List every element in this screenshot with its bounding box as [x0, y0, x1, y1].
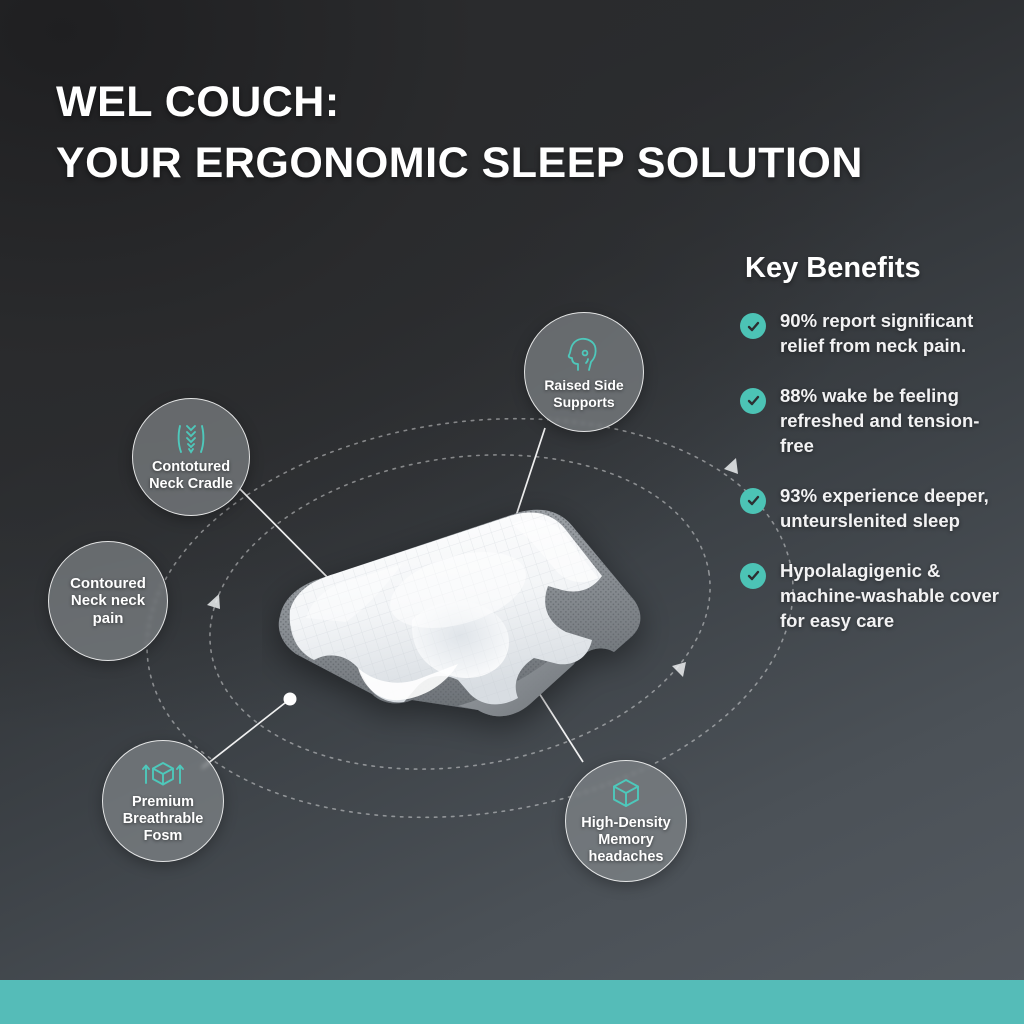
- bottom-accent-bar: [0, 980, 1024, 1024]
- feature-bubble-neck-pain[interactable]: Contoured Neck neck pain: [48, 541, 168, 661]
- benefit-item: 93% experience deeper, unteurslenited sl…: [740, 484, 1012, 534]
- key-benefits-panel: Key Benefits 90% report significant reli…: [740, 252, 1012, 659]
- benefit-text: 88% wake be feeling refreshed and tensio…: [780, 384, 1012, 459]
- feature-bubble-breathable-foam[interactable]: Premium Breathrable Fosm: [102, 740, 224, 862]
- benefit-item: 88% wake be feeling refreshed and tensio…: [740, 384, 1012, 459]
- check-icon: [740, 488, 766, 514]
- title-line-2: YOUR ERGONOMIC SLEEP SOLUTION: [56, 139, 956, 187]
- benefit-text: 93% experience deeper, unteurslenited sl…: [780, 484, 1012, 534]
- check-icon: [740, 313, 766, 339]
- feature-label: Raised Side Supports: [525, 377, 643, 409]
- breathable-cube-icon: [140, 757, 186, 791]
- feature-bubble-side-supports[interactable]: Raised Side Supports: [524, 312, 644, 432]
- key-benefits-title: Key Benefits: [745, 252, 1012, 285]
- cube-icon: [607, 776, 645, 812]
- benefit-text: Hypolalagigenic & machine-washable cover…: [780, 559, 1012, 634]
- product-image-contoured-pillow: [262, 468, 682, 768]
- infographic-poster: WEL COUCH: YOUR ERGONOMIC SLEEP SOLUTION: [0, 0, 1024, 1024]
- check-icon: [740, 563, 766, 589]
- title-line-1: WEL COUCH:: [56, 78, 956, 126]
- feature-label: High-Density Memory headaches: [566, 815, 686, 865]
- spine-icon: [171, 422, 211, 456]
- benefit-item: Hypolalagigenic & machine-washable cover…: [740, 559, 1012, 634]
- feature-label: Contotured Neck Cradle: [133, 459, 249, 493]
- feature-bubble-neck-cradle[interactable]: Contotured Neck Cradle: [132, 398, 250, 516]
- page-title: WEL COUCH: YOUR ERGONOMIC SLEEP SOLUTION: [56, 78, 956, 187]
- feature-label: Contoured Neck neck pain: [49, 575, 167, 627]
- feature-label: Premium Breathrable Fosm: [103, 794, 223, 844]
- benefit-text: 90% report significant relief from neck …: [780, 309, 1012, 359]
- benefit-item: 90% report significant relief from neck …: [740, 309, 1012, 359]
- check-icon: [740, 388, 766, 414]
- feature-bubble-memory-foam[interactable]: High-Density Memory headaches: [565, 760, 687, 882]
- head-profile-icon: [564, 334, 604, 374]
